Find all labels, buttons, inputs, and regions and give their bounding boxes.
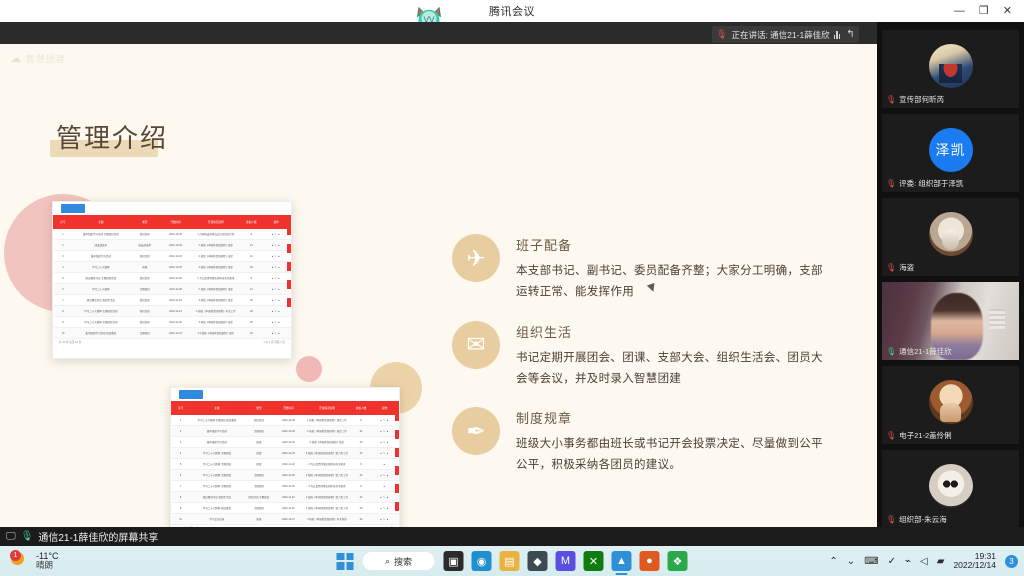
th-desc: 开展情况说明 xyxy=(303,402,351,415)
cell: 学习二十大精神 团员教育 xyxy=(190,503,244,514)
cell: 40 xyxy=(241,328,262,339)
table-row: 4学习二十大精神 主题团日团课2022-10-253 按照《中国共青团章程》第六… xyxy=(172,448,399,459)
cell: 团员教育评议 主题团日活动 xyxy=(72,273,129,284)
mic-muted-icon: 🎙 xyxy=(886,180,896,188)
bullet-text: 班级大小事务都由班长或书记开会投票决定、尽量做到公平公平，积极采纳各团员的建议。 xyxy=(516,433,834,476)
cell: 学习二十大精神 xyxy=(72,284,129,295)
bullet-item: ✉ 组织生活 书记定期开展团会、团课、支部大会、组织生活会、团员大会等会议，并及… xyxy=(452,321,852,390)
cell: 40 xyxy=(351,470,371,481)
clock-date: 2022/12/14 xyxy=(953,561,996,570)
cell: 3 按照《中国共青团章程》第六条工作 xyxy=(303,448,351,459)
slide-bullet-list: ✈ 班子配备 本支部书记、副书记、委员配备齐整；大家分工明确，支部运转正常、能发… xyxy=(452,234,852,494)
speaking-indicator: 🎙 正在讲话: 通信21-1薛佳欣 ↰ xyxy=(712,26,859,43)
wifi-icon[interactable]: ⌁ xyxy=(905,556,911,567)
participant-name: 海盗 xyxy=(899,262,914,273)
cell: 2 按照《中国共青团章程》规定 xyxy=(191,251,241,262)
microphone-icon[interactable]: ⌄ xyxy=(847,556,855,567)
pen-icon: ✒ xyxy=(452,407,500,455)
table-screenshot-b: 序号 主题 类型 开始时间 开展情况说明 参加人数 操作 1学习二十大精神 主题… xyxy=(170,387,400,527)
cell: 8 xyxy=(54,306,73,317)
cell: 1 按照《中国共青团章程》规定工作 xyxy=(303,415,351,426)
cell: 2022-11-30 xyxy=(160,317,191,328)
table-row: 2团支部选举团支部选举2022-10-092 按照《中国共青团章程》规定41●✎… xyxy=(54,240,291,251)
cell: 2022-10-20 xyxy=(274,437,304,448)
cell: 41 xyxy=(351,426,371,437)
cell: 集中组织学习活动 xyxy=(72,251,129,262)
participant-tile[interactable]: 🎙 电子21-2盖伶俐 xyxy=(882,366,1019,444)
window-controls: — ❐ ✕ xyxy=(954,0,1020,22)
taskbar-app-file-explorer[interactable]: ▤ xyxy=(500,551,520,571)
cell: 40 xyxy=(351,514,371,525)
mic-muted-icon: 🎙 xyxy=(886,264,896,272)
watermark-label: 智慧团建 xyxy=(26,52,66,65)
table-header-row: 序号 主题 类型 开始时间 开展情况说明 参加人数 操作 xyxy=(172,402,399,415)
cell: 41 xyxy=(241,284,262,295)
cell: 40 xyxy=(241,317,262,328)
participant-name: 通信21-1薛佳欣 xyxy=(899,346,952,357)
envelope-icon: ✉ xyxy=(452,321,500,369)
screenshot-b-side-marks xyxy=(395,412,399,520)
cell: 主题团日 xyxy=(129,284,160,295)
screenshot-a-footer: 共 10 条 每页 10 条 1 共 1 页 到第 1 页 xyxy=(53,339,291,345)
screenshot-b-add-button xyxy=(179,390,203,399)
cell: 1 召开团支部委员会讨论活动计划 xyxy=(191,229,241,240)
weather-icon: 1 xyxy=(10,552,30,570)
cell: 9 xyxy=(172,503,190,514)
cell: 学习二十大精神 主题团日 xyxy=(190,481,244,492)
avatar xyxy=(929,212,973,256)
participant-tile-active-speaker[interactable]: 🎙 通信21-1薛佳欣 xyxy=(882,282,1019,360)
participant-name: 组织部-朱云海 xyxy=(899,514,947,525)
cell: 2022-10-08 xyxy=(274,415,304,426)
cell: 3 按照《中国共青团章程》有关条款 xyxy=(303,514,351,525)
table-row: 8学习二十大精神 主题团日活动团日活动2022-11-234 按照《中国共青团章… xyxy=(54,306,291,317)
table-row: 1学习二十大精神 主题团日 团员教育团日活动2022-10-081 按照《中国共… xyxy=(172,415,399,426)
shared-screen-content: ☁ 智慧团建 管理介绍 序号 主题 类型 开始时间 开展情况说明 参 xyxy=(0,44,877,527)
cell: 2022-10-25 xyxy=(274,448,304,459)
cell: 学习会议记录 xyxy=(190,514,244,525)
table-row: 5团员教育评议 主题团日活动团日活动2022-11-021 为认真贯彻落实团中央… xyxy=(54,273,291,284)
table-row: 4学习二十大精神团课2022-10-253 按照《中国共青团章程》规定40●✎● xyxy=(54,262,291,273)
search-input[interactable]: ⌕ 搜索 xyxy=(362,551,436,571)
cell: 9 xyxy=(241,273,262,284)
cell: 1 为认真贯彻落实团中央有关要求 xyxy=(191,273,241,284)
bullet-body: 班子配备 本支部书记、副书记、委员配备齐整；大家分工明确，支部运转正常、能发挥作… xyxy=(516,234,834,303)
bullet-body: 组织生活 书记定期开展团会、团课、支部大会、组织生活会、团员大会等会议，并及时录… xyxy=(516,321,834,390)
cell: 2 按照《中国共青团章程》规定 xyxy=(191,284,241,295)
taskbar-app-purple[interactable]: M xyxy=(556,551,576,571)
cell: 2022-10-08 xyxy=(160,229,191,240)
screenshot-a-table: 序号 主题 类型 开始时间 开展情况说明 参加人数 操作 1集中组织学习活动 主… xyxy=(53,215,291,339)
cell: 主题团日 xyxy=(244,426,274,437)
cell: 团课 xyxy=(244,514,274,525)
show-hidden-icons[interactable]: ⌃ xyxy=(829,556,837,567)
cell: 3 xyxy=(172,437,190,448)
cell: 集中组织学习活动 团员教育 xyxy=(72,328,129,339)
avatar xyxy=(929,464,973,508)
cell: 主题团日 xyxy=(244,470,274,481)
share-bar-label: 通信21-1薛佳欣的屏幕共享 xyxy=(38,529,158,544)
cell: 2 xyxy=(172,426,190,437)
minimize-button[interactable]: — xyxy=(954,6,965,17)
table-row: 6学习二十大精神主题团日2022-11-092 按照《中国共青团章程》规定41●… xyxy=(54,284,291,295)
taskbar-app-green[interactable]: ❖ xyxy=(668,551,688,571)
cell: 2022-10-20 xyxy=(160,251,191,262)
slide-title-wrap: 管理介绍 xyxy=(56,118,168,155)
pen-tray-icon[interactable]: ✓ xyxy=(888,556,896,567)
window-titlebar: 腾讯会议 — ❐ ✕ xyxy=(0,0,1024,22)
screenshot-a-side-marks xyxy=(287,226,291,316)
cell: 集中组织学习活动 xyxy=(190,437,244,448)
cell: 3 按照《中国共青团章程》规定 xyxy=(191,262,241,273)
cell: 3 按照《中国共青团章程》规定 xyxy=(191,317,241,328)
participant-name-row: 🎙 电子21-2盖伶俐 xyxy=(886,430,952,441)
cell: 40 xyxy=(351,448,371,459)
cell: 9 xyxy=(351,415,371,426)
th-topic: 主题 xyxy=(72,216,129,229)
cell: 4 按照《中国共青团章程》有关工作 xyxy=(191,306,241,317)
cell: 6 xyxy=(172,470,190,481)
participant-name-row: 🎙 评委: 组织部于泽凯 xyxy=(886,178,963,189)
window-blinds xyxy=(989,309,1005,329)
table-row: 10集中组织学习活动 团员教育主题团日2022-12-074.1 按照《中国共青… xyxy=(54,328,291,339)
cell: 团课 xyxy=(244,448,274,459)
cell: 学习二十大精神 主题团日活动 xyxy=(72,306,129,317)
cell: 团日活动 xyxy=(244,415,274,426)
table-row: 5学习二十大精神 主题团日团课2022-11-024 为认真贯彻落实团中央有关要… xyxy=(172,459,399,470)
cell: 学习二十大精神 主题团日活动 xyxy=(72,317,129,328)
mic-live-icon: 🎙 xyxy=(886,348,896,356)
cell: 8 xyxy=(172,492,190,503)
windows-taskbar: 1 -11°C 晴朗 ⌕ 搜索 ▣ ◉ ▤ ◆ M ✕ ▲ ● ❖ ⌃ ⌄ xyxy=(0,546,1024,576)
cell: 2022-12-07 xyxy=(160,328,191,339)
avatar xyxy=(929,44,973,88)
cell: 主题团日 xyxy=(129,328,160,339)
cell: 2 xyxy=(54,240,73,251)
cell: 40 xyxy=(241,295,262,306)
mic-green-icon: 🎙 xyxy=(21,531,34,542)
cell: 主题团日 xyxy=(244,481,274,492)
participant-rail: 🎙 宣传部何昕芮 泽凯 🎙 评委: 组织部于泽凯 🎙 海盗 🎙 xyxy=(877,22,1024,527)
audio-wave-icon xyxy=(834,30,841,39)
cell: 7 xyxy=(172,481,190,492)
cell: 9 xyxy=(241,229,262,240)
cell: 学习二十大精神 xyxy=(72,262,129,273)
bullet-heading: 组织生活 xyxy=(516,322,834,341)
cell: 5 xyxy=(54,273,73,284)
cell: 团日活动 xyxy=(129,295,160,306)
cell: 3 按照《中国共青团章程》规定 xyxy=(191,295,241,306)
cell: 团日活动 xyxy=(129,306,160,317)
bullet-heading: 制度规章 xyxy=(516,408,834,427)
th-count: 参加人数 xyxy=(351,402,371,415)
cell: 2022-12-07 xyxy=(274,514,304,525)
participant-name-row: 🎙 通信21-1薛佳欣 xyxy=(886,346,952,357)
cell: 10 xyxy=(54,328,73,339)
table-row: 9学习二十大精神 主题团日活动团日活动2022-11-303 按照《中国共青团章… xyxy=(54,317,291,328)
cell: 团日活动 xyxy=(129,317,160,328)
meeting-chrome-strip xyxy=(0,22,1024,44)
windows-start-icon[interactable] xyxy=(337,553,354,570)
taskbar-app-xbox[interactable]: ✕ xyxy=(584,551,604,571)
table-row: 7团员教育评议 组织生活会团日活动2022-11-163 按照《中国共青团章程》… xyxy=(54,295,291,306)
cell: 团日活动 xyxy=(129,251,160,262)
cell: 2022-11-09 xyxy=(274,470,304,481)
table-row: 7学习二十大精神 主题团日主题团日2022-11-163 为认真贯彻落实团中央有… xyxy=(172,481,399,492)
cell: 2022-11-09 xyxy=(160,284,191,295)
row-actions: ●✎● xyxy=(262,328,290,339)
cell: 2022-11-16 xyxy=(160,295,191,306)
cell: 集中组织学习活动 主题团日活动 xyxy=(72,229,129,240)
cell: 团员教育评议 组织生活会 xyxy=(190,492,244,503)
cell: 2022-10-09 xyxy=(274,426,304,437)
th-start: 开始时间 xyxy=(160,216,191,229)
bullet-item: ✒ 制度规章 班级大小事务都由班长或书记开会投票决定、尽量做到公平公平，积极采纳… xyxy=(452,407,852,476)
screen-root: 腾讯会议 — ❐ ✕ VV 🎙 正在讲话: 通信21-1薛佳欣 ↰ ☁ 智慧团建 xyxy=(0,0,1024,576)
avatar: 泽凯 xyxy=(929,128,973,172)
cell: 4 xyxy=(54,262,73,273)
screenshot-a-add-button xyxy=(61,204,85,213)
cell: 4 xyxy=(172,448,190,459)
cell: 7 xyxy=(54,295,73,306)
cell: 3 按照《中国共青团章程》第六条工作 xyxy=(303,503,351,514)
cloud-icon: ☁ xyxy=(10,52,21,65)
table-row: 2集中组织学习活动主题团日2022-10-092 按照《中国共青团章程》规定工作… xyxy=(172,426,399,437)
cell: 2022-11-02 xyxy=(274,459,304,470)
participant-tile[interactable]: 🎙 海盗 xyxy=(882,198,1019,276)
system-tray: ⌃ ⌄ ⌨ ✓ ⌁ ◁ ▰ 19:31 2022/12/14 3 xyxy=(829,552,1018,571)
cell: 团课 xyxy=(244,459,274,470)
volume-icon[interactable]: ◁ xyxy=(920,556,928,567)
cell: 3 为认真贯彻落实团中央有关要求 xyxy=(303,481,351,492)
th-type: 类型 xyxy=(244,402,274,415)
cell: 2022-11-23 xyxy=(274,492,304,503)
bullet-text: 本支部书记、副书记、委员配备齐整；大家分工明确，支部运转正常、能发挥作用 xyxy=(516,260,834,303)
table-row: 3集中组织学习活动团日活动2022-10-202 按照《中国共青团章程》规定41… xyxy=(54,251,291,262)
footer-right: 1 共 1 页 到第 1 页 xyxy=(263,340,285,344)
cell: 学习二十大精神 主题团日 xyxy=(190,470,244,481)
th-desc: 开展情况说明 xyxy=(191,216,241,229)
th-topic: 主题 xyxy=(190,402,244,415)
back-arrow-icon[interactable]: ↰ xyxy=(846,29,854,40)
cell: 2022-11-02 xyxy=(160,273,191,284)
cell: 2022-10-25 xyxy=(160,262,191,273)
weather-text: -11°C 晴朗 xyxy=(36,551,58,571)
participant-name-row: 🎙 组织部-朱云海 xyxy=(886,514,947,525)
table-row: 3集中组织学习活动团课2022-10-202 按照《中国共青团章程》规定40●✎… xyxy=(172,437,399,448)
cell: 团支部选举 xyxy=(72,240,129,251)
cell: 40 xyxy=(241,262,262,273)
cell: 2022-11-16 xyxy=(274,481,304,492)
battery-icon[interactable]: ▰ xyxy=(937,556,945,567)
mic-red-icon: 🎙 xyxy=(716,29,727,40)
cell: 1 xyxy=(172,415,190,426)
maximize-button[interactable]: ❐ xyxy=(979,6,989,17)
mic-muted-icon: 🎙 xyxy=(886,96,896,104)
table-row: 10学习会议记录团课2022-12-073 按照《中国共青团章程》有关条款40●… xyxy=(172,514,399,525)
mic-muted-icon: 🎙 xyxy=(886,432,896,440)
cell: 2 按照《中国共青团章程》规定 xyxy=(303,437,351,448)
table-row: 8团员教育评议 组织生活会团日活动 主题团日2022-11-232 按照《中国共… xyxy=(172,492,399,503)
taskbar-app-dark[interactable]: ◆ xyxy=(528,551,548,571)
screenshot-b-body: 1学习二十大精神 主题团日 团员教育团日活动2022-10-081 按照《中国共… xyxy=(172,415,399,525)
weather-condition: 晴朗 xyxy=(36,561,58,571)
participant-tile[interactable]: 泽凯 🎙 评委: 组织部于泽凯 xyxy=(882,114,1019,192)
weather-widget[interactable]: 1 -11°C 晴朗 xyxy=(10,551,58,571)
cell: 9 xyxy=(351,481,371,492)
taskbar-app-orange[interactable]: ● xyxy=(640,551,660,571)
bullet-heading: 班子配备 xyxy=(516,235,834,254)
cell: 40 xyxy=(351,492,371,503)
cell: 2022-11-23 xyxy=(160,306,191,317)
th-index: 序号 xyxy=(54,216,73,229)
participant-tile[interactable]: 🎙 组织部-朱云海 ✓ 英 ☽ ✎ ✿ xyxy=(882,450,1019,528)
avatar xyxy=(929,380,973,424)
participant-tile[interactable]: 🎙 宣传部何昕芮 xyxy=(882,30,1019,108)
participant-name: 评委: 组织部于泽凯 xyxy=(899,178,963,189)
row-actions: ●✎● xyxy=(262,317,290,328)
decor-circle-pink-small xyxy=(296,356,322,382)
taskbar-center: ⌕ 搜索 ▣ ◉ ▤ ◆ M ✕ ▲ ● ❖ xyxy=(337,551,688,571)
table-row: 1集中组织学习活动 主题团日活动团日活动2022-10-081 召开团支部委员会… xyxy=(54,229,291,240)
th-start: 开始时间 xyxy=(274,402,304,415)
search-placeholder: 搜索 xyxy=(394,555,412,568)
cell: 2022-10-09 xyxy=(160,240,191,251)
notification-badge: 1 xyxy=(10,550,21,561)
cell: 40 xyxy=(351,437,371,448)
cell: 学习二十大精神 主题团日 xyxy=(190,459,244,470)
cell: 40 xyxy=(241,306,262,317)
page-title: 管理介绍 xyxy=(56,118,168,155)
cell: 6 xyxy=(54,284,73,295)
monitor-icon: 🖵 xyxy=(6,531,16,542)
cell: 2 按照《中国共青团章程》规定 xyxy=(191,240,241,251)
screenshot-a-toolbar xyxy=(53,202,291,215)
speaking-label: 正在讲话: 通信21-1薛佳欣 xyxy=(731,29,829,41)
th-type: 类型 xyxy=(129,216,160,229)
cell: 2 按照《中国共青团章程》第六条工作 xyxy=(303,470,351,481)
search-icon: ⌕ xyxy=(385,556,390,567)
taskbar-app-edge[interactable]: ◉ xyxy=(472,551,492,571)
taskbar-app-task-view[interactable]: ▣ xyxy=(444,551,464,571)
cell: 41 xyxy=(241,251,262,262)
cell: 团日活动 主题团日 xyxy=(244,492,274,503)
taskbar-app-tencent-meeting[interactable]: ▲ xyxy=(612,551,632,571)
cell: 4 为认真贯彻落实团中央有关要求 xyxy=(303,459,351,470)
cell: 学习二十大精神 主题团日 xyxy=(190,448,244,459)
mic-muted-icon: 🎙 xyxy=(886,516,896,524)
slide-watermark: ☁ 智慧团建 xyxy=(10,52,66,65)
footer-left: 共 10 条 每页 10 条 xyxy=(59,340,81,344)
participant-name-row: 🎙 海盗 xyxy=(886,262,914,273)
cell: 团日活动 xyxy=(129,273,160,284)
cell: 5 xyxy=(172,459,190,470)
keyboard-icon[interactable]: ⌨ xyxy=(864,556,878,567)
screen-share-bar: 🖵 🎙 通信21-1薛佳欣的屏幕共享 xyxy=(0,527,1024,546)
cell: 40 xyxy=(351,503,371,514)
cell: 10 xyxy=(172,514,190,525)
airplane-icon: ✈ xyxy=(452,234,500,282)
cell: 团员教育评议 组织生活会 xyxy=(72,295,129,306)
bullet-body: 制度规章 班级大小事务都由班长或书记开会投票决定、尽量做到公平公平，积极采纳各团… xyxy=(516,407,834,476)
bullet-text: 书记定期开展团会、团课、支部大会、组织生活会、团员大会等会议，并及时录入智慧团建 xyxy=(516,347,834,390)
th-count: 参加人数 xyxy=(241,216,262,229)
th-index: 序号 xyxy=(172,402,190,415)
cell: 9 xyxy=(54,317,73,328)
participant-name-row: 🎙 宣传部何昕芮 xyxy=(886,94,944,105)
cell: 41 xyxy=(241,240,262,251)
notification-center-badge[interactable]: 3 xyxy=(1005,555,1018,568)
cell: 2 按照《中国共青团章程》规定工作 xyxy=(303,426,351,437)
cell: 2 按照《中国共青团章程》第六条工作 xyxy=(303,492,351,503)
close-button[interactable]: ✕ xyxy=(1003,6,1012,17)
screenshot-a-body: 1集中组织学习活动 主题团日活动团日活动2022-10-081 召开团支部委员会… xyxy=(54,229,291,339)
cell: 1 xyxy=(54,229,73,240)
cell: 2022-11-30 xyxy=(274,503,304,514)
participant-name: 电子21-2盖伶俐 xyxy=(899,430,952,441)
cell: 集中组织学习活动 xyxy=(190,426,244,437)
participant-name: 宣传部何昕芮 xyxy=(899,94,944,105)
table-row: 9学习二十大精神 团员教育主题团日2022-11-303 按照《中国共青团章程》… xyxy=(172,503,399,514)
window-title: 腾讯会议 xyxy=(489,3,535,19)
screenshot-b-toolbar xyxy=(171,388,399,401)
cell: 3 xyxy=(54,251,73,262)
table-row: 6学习二十大精神 主题团日主题团日2022-11-092 按照《中国共青团章程》… xyxy=(172,470,399,481)
cell: 学习二十大精神 主题团日 团员教育 xyxy=(190,415,244,426)
screenshot-b-table: 序号 主题 类型 开始时间 开展情况说明 参加人数 操作 1学习二十大精神 主题… xyxy=(171,401,399,525)
avatar-initials: 泽凯 xyxy=(936,140,966,160)
table-screenshot-a: 序号 主题 类型 开始时间 开展情况说明 参加人数 操作 1集中组织学习活动 主… xyxy=(52,201,292,359)
table-header-row: 序号 主题 类型 开始时间 开展情况说明 参加人数 操作 xyxy=(54,216,291,229)
clock[interactable]: 19:31 2022/12/14 xyxy=(953,552,996,571)
cell: 团课 xyxy=(129,262,160,273)
cell: 主题团日 xyxy=(244,503,274,514)
cell: 团日活动 xyxy=(129,229,160,240)
cell: 9 xyxy=(351,459,371,470)
cell: 4.1 按照《中国共青团章程》规定 xyxy=(191,328,241,339)
cell: 团支部选举 xyxy=(129,240,160,251)
cell: 团课 xyxy=(244,437,274,448)
